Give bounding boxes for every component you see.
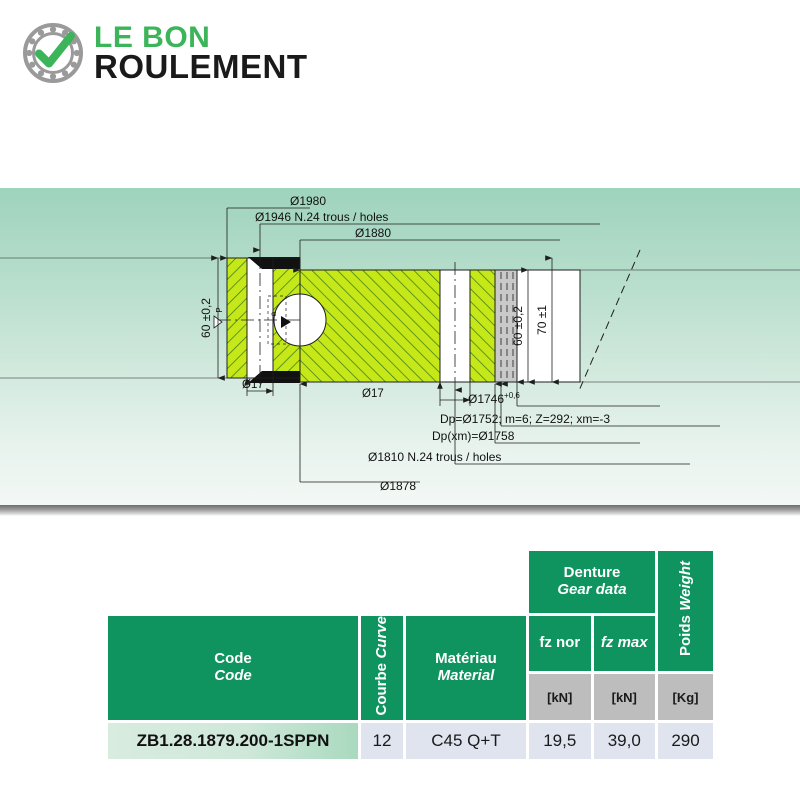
band-shadow-divider (0, 505, 800, 516)
cell-code[interactable]: ZB1.28.1879.200-1SPPN (108, 723, 358, 759)
weight-label-fr: Poids (677, 615, 694, 656)
curve-label-en: Curve (373, 616, 390, 659)
gear-data-group-header: Denture Gear data (529, 551, 655, 613)
cell-fz-max: 39,0 (594, 723, 656, 759)
logo-header: LE BON ROULEMENT (0, 0, 800, 188)
specification-table: Denture Gear data Poids Weight Code Code… (105, 548, 716, 762)
material-label-en: Material (406, 668, 526, 685)
dim-height-gear-ring: 60 ±0,2 (511, 306, 525, 346)
brand-wordmark: LE BON ROULEMENT (94, 24, 308, 82)
fz-max-label: fz max (601, 634, 648, 651)
weight-label-en: Weight (677, 561, 694, 611)
code-header: Code Code (108, 616, 358, 720)
dim-gear-data: Dp=Ø1752; m=6; Z=292; xm=-3 (440, 412, 610, 426)
table-row-header: Code Code Courbe Curve Matériau Material… (108, 616, 713, 671)
dim-raceway-upper: Ø1880 (355, 226, 391, 240)
table-row[interactable]: ZB1.28.1879.200-1SPPN 12 C45 Q+T 19,5 39… (108, 723, 713, 759)
brand-line-2: ROULEMENT (94, 52, 308, 82)
dim-bolt-circle-lower: Ø1810 N.24 trous / holes (368, 450, 501, 464)
dim-bore-hole-lower: Ø17 (362, 388, 384, 400)
code-label-en: Code (108, 668, 358, 685)
empty-spacer-cell (108, 551, 526, 613)
dim-gear-pitch-xm: Dp(xm)=Ø1758 (432, 429, 515, 443)
brand-logo: LE BON ROULEMENT (22, 22, 308, 84)
dim-height-upper-ring: 60 ±0,2 (199, 298, 213, 338)
dim-outer-diameter: Ø1980 (290, 194, 326, 208)
dim-bolt-circle-upper: Ø1946 N.24 trous / holes (255, 210, 388, 224)
gear-data-label-en: Gear data (529, 582, 655, 599)
bearing-check-icon (22, 22, 84, 84)
technical-drawing: Ø1980 Ø1946 N.24 trous / holes Ø1880 Ø17… (0, 188, 800, 505)
curve-label-fr: Courbe (373, 663, 390, 716)
material-header: Matériau Material (406, 616, 526, 720)
table-row-group-header: Denture Gear data Poids Weight (108, 551, 713, 613)
fz-nor-unit: [kN] (529, 674, 591, 721)
fz-max-header: fz max (594, 616, 656, 671)
weight-header: Poids Weight (658, 551, 713, 671)
section-mark-a: a (269, 311, 278, 316)
section-mark-p: P (215, 307, 224, 312)
cell-fz-nor: 19,5 (529, 723, 591, 759)
weight-unit: [Kg] (658, 674, 713, 721)
material-label-fr: Matériau (406, 651, 526, 668)
curve-header: Courbe Curve (361, 616, 403, 720)
dim-bore-hole-upper: Ø17 (242, 379, 264, 391)
code-label-fr: Code (108, 651, 358, 668)
cell-curve: 12 (361, 723, 403, 759)
fz-nor-header: fz nor (529, 616, 591, 671)
fz-max-unit: [kN] (594, 674, 656, 721)
cell-material: C45 Q+T (406, 723, 526, 759)
dim-gear-root-diameter: Ø1746+0,6 (468, 391, 520, 406)
fz-nor-label: fz nor (539, 634, 580, 651)
gear-data-label-fr: Denture (529, 565, 655, 582)
cell-weight: 290 (658, 723, 713, 759)
dim-inner-diameter: Ø1878 (380, 479, 416, 493)
dim-total-height: 70 ±1 (535, 305, 549, 335)
